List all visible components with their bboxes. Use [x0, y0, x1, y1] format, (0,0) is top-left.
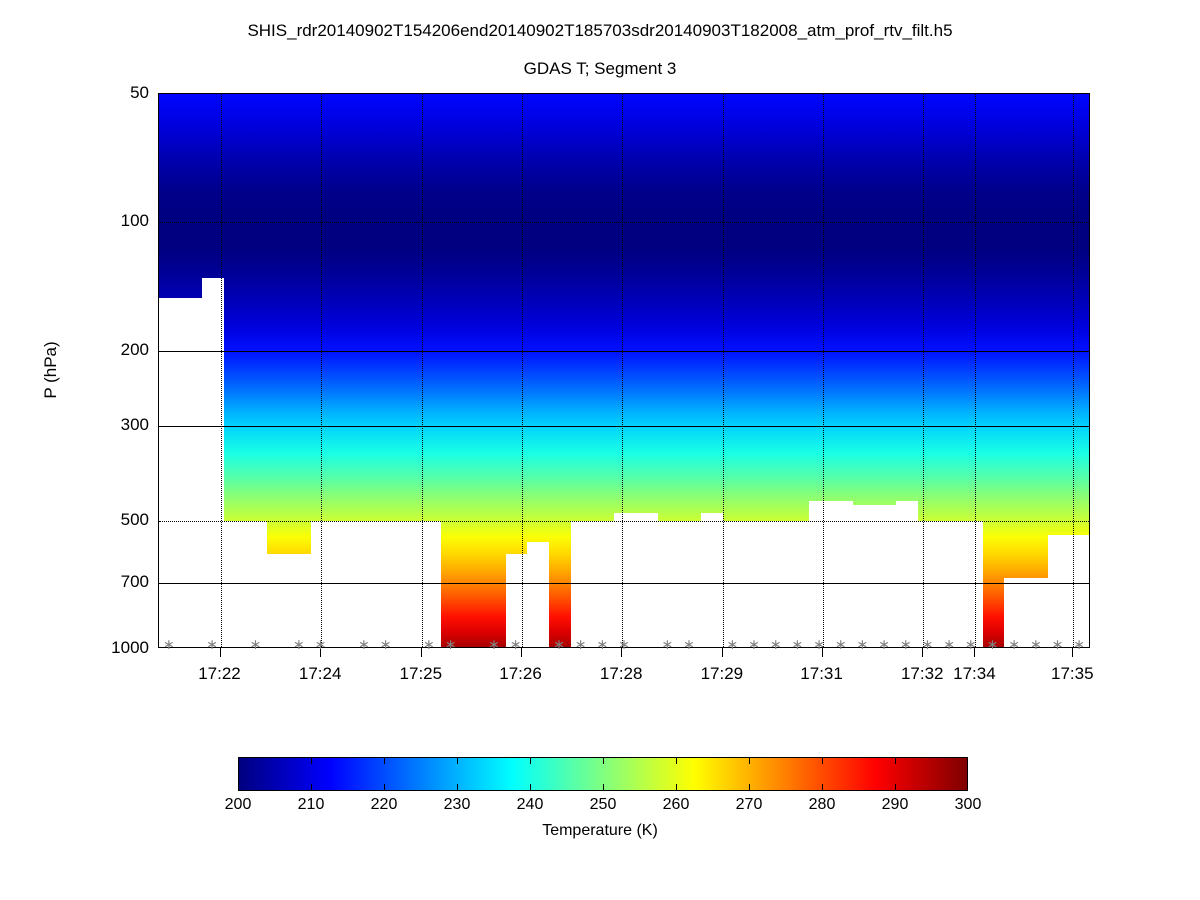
colorbar-tick — [822, 757, 823, 764]
surface-marker: ∗ — [553, 637, 565, 651]
x-axis-tick-label: 17:24 — [275, 664, 365, 684]
surface-marker: ∗ — [1008, 637, 1020, 651]
x-axis-tick-label: 17:31 — [777, 664, 867, 684]
surface-marker: ∗ — [445, 637, 457, 651]
colorbar-tick-label: 200 — [198, 796, 278, 814]
colorbar-tick-label: 220 — [344, 796, 424, 814]
surface-marker: ∗ — [206, 637, 218, 651]
colorbar-tick — [895, 757, 896, 764]
y-axis-tick-label: 1000 — [29, 638, 149, 658]
colorbar-tick-label: 300 — [928, 796, 1008, 814]
surface-marker: ∗ — [618, 637, 630, 651]
surface-marker: ∗ — [813, 637, 825, 651]
surface-marker: ∗ — [748, 637, 760, 651]
surface-marker: ∗ — [770, 637, 782, 651]
surface-marker: ∗ — [163, 637, 175, 651]
y-axis-tick-label: 700 — [29, 572, 149, 592]
y-axis-tick-label: 200 — [29, 340, 149, 360]
x-axis-tick-label: 17:29 — [677, 664, 767, 684]
y-axis-tick-label: 300 — [29, 415, 149, 435]
x-axis-tick-label: 17:22 — [175, 664, 265, 684]
colorbar-tick — [749, 757, 750, 764]
y-axis-tick-label: 100 — [29, 211, 149, 231]
surface-marker: ∗ — [900, 637, 912, 651]
y-axis-tick-label: 500 — [29, 510, 149, 530]
surface-marker: ∗ — [965, 637, 977, 651]
x-axis-tick-label: 17:28 — [576, 664, 666, 684]
x-axis-tick-label: 17:34 — [929, 664, 1019, 684]
x-axis-tick — [722, 648, 723, 657]
colorbar-tick-label: 240 — [490, 796, 570, 814]
colorbar-tick-label: 290 — [855, 796, 935, 814]
surface-marker: ∗ — [510, 637, 522, 651]
colorbar-tick — [676, 784, 677, 791]
surface-marker: ∗ — [293, 637, 305, 651]
colorbar-tick-label: 280 — [782, 796, 862, 814]
y-axis-tick-label: 50 — [29, 83, 149, 103]
colorbar-tick-label: 230 — [417, 796, 497, 814]
surface-marker: ∗ — [987, 637, 999, 651]
colorbar-tick-label: 210 — [271, 796, 351, 814]
surface-marker: ∗ — [661, 637, 673, 651]
surface-marker: ∗ — [1073, 637, 1085, 651]
colorbar-container — [238, 757, 968, 791]
x-axis-tick-label: 17:35 — [1027, 664, 1117, 684]
surface-marker: ∗ — [857, 637, 869, 651]
colorbar-tick — [311, 757, 312, 764]
colorbar-tick — [384, 757, 385, 764]
colorbar-tick — [822, 784, 823, 791]
surface-marker: ∗ — [1052, 637, 1064, 651]
surface-marker: ∗ — [922, 637, 934, 651]
colorbar-tick — [603, 757, 604, 764]
colorbar-tick-label: 250 — [563, 796, 643, 814]
surface-marker: ∗ — [250, 637, 262, 651]
surface-marker: ∗ — [878, 637, 890, 651]
surface-marker: ∗ — [596, 637, 608, 651]
colorbar-tick — [895, 784, 896, 791]
x-axis-tick-label: 17:25 — [376, 664, 466, 684]
x-axis-tick — [220, 648, 221, 657]
colorbar-tick-label: 270 — [709, 796, 789, 814]
surface-marker: ∗ — [683, 637, 695, 651]
colorbar-tick — [530, 784, 531, 791]
x-axis-tick — [421, 648, 422, 657]
colorbar-tick — [603, 784, 604, 791]
colorbar-tick — [457, 784, 458, 791]
surface-marker: ∗ — [835, 637, 847, 651]
surface-marker: ∗ — [315, 637, 327, 651]
surface-marker: ∗ — [423, 637, 435, 651]
colorbar-tick — [749, 784, 750, 791]
surface-marker: ∗ — [488, 637, 500, 651]
surface-marker: ∗ — [380, 637, 392, 651]
colorbar-tick — [530, 757, 531, 764]
figure-canvas: SHIS_rdr20140902T154206end20140902T18570… — [0, 0, 1200, 900]
x-axis-tick-label: 17:26 — [476, 664, 566, 684]
colorbar-tick — [311, 784, 312, 791]
surface-marker: ∗ — [1030, 637, 1042, 651]
surface-marker: ∗ — [575, 637, 587, 651]
surface-marker: ∗ — [943, 637, 955, 651]
colorbar-title: Temperature (K) — [0, 822, 1200, 840]
colorbar-tick — [676, 757, 677, 764]
surface-marker: ∗ — [358, 637, 370, 651]
colorbar-tick-label: 260 — [636, 796, 716, 814]
colorbar-tick — [384, 784, 385, 791]
surface-marker: ∗ — [792, 637, 804, 651]
surface-marker: ∗ — [726, 637, 738, 651]
colorbar-tick — [457, 757, 458, 764]
